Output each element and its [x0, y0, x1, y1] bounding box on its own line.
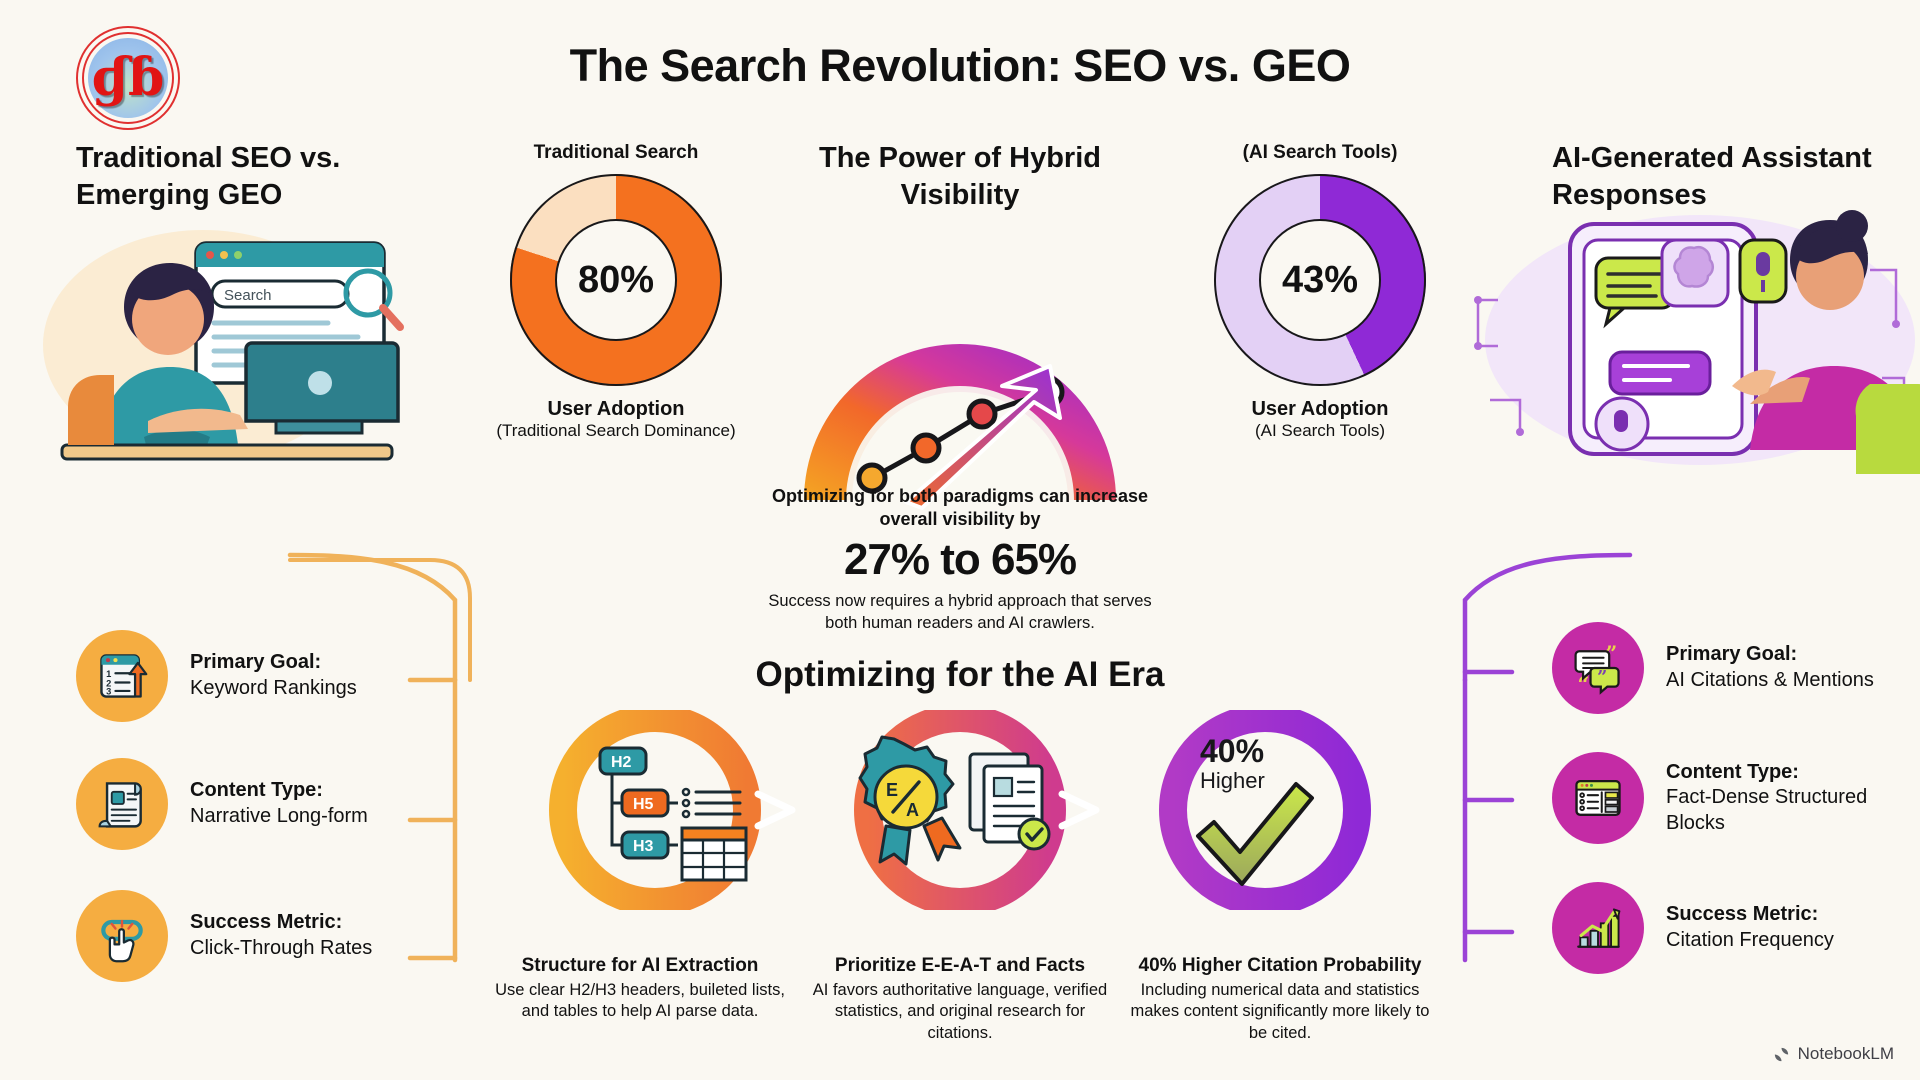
left-feature-content-type[interactable]: Content Type: Narrative Long-form	[76, 758, 368, 850]
donut-chart-traditional-search: Traditional Search 80% User Adoption (Tr…	[496, 142, 736, 441]
left-feature-title-3: Success Metric:	[190, 910, 372, 936]
flow-caption-heading-3: 40% Higher Citation Probability	[1128, 955, 1432, 977]
page-title: The Search Revolution: SEO vs. GEO	[0, 40, 1920, 92]
flow-caption-body-2: AI favors authoritative language, verifi…	[808, 980, 1112, 1044]
flow-caption-body-1: Use clear H2/H3 headers, buileted lists,…	[488, 980, 792, 1023]
right-feature-content-type[interactable]: Content Type: Fact-Dense Structured Bloc…	[1552, 752, 1920, 844]
center-statistic: Optimizing for both paradigms can increa…	[760, 485, 1160, 635]
svg-text:H2: H2	[611, 754, 632, 771]
donut-caption-sub: (Traditional Search Dominance)	[496, 421, 736, 441]
ai-era-flow-diagram: H2 H5 H3 E A	[500, 710, 1420, 910]
document-scroll-icon	[76, 758, 168, 850]
donut-ring-ai: 43%	[1214, 174, 1426, 386]
flow-caption-3: 40% Higher Citation Probability Includin…	[1120, 955, 1440, 1044]
right-feature-body-3: Citation Frequency	[1666, 929, 1834, 951]
flow-captions: Structure for AI Extraction Use clear H2…	[480, 955, 1440, 1044]
donut-ring-traditional: 80%	[510, 174, 722, 386]
growth-chart-icon	[1552, 882, 1644, 974]
right-feature-title-3: Success Metric:	[1666, 902, 1834, 928]
donut-chart-ai-search-tools: (AI Search Tools) 43% User Adoption (AI …	[1200, 142, 1440, 441]
left-feature-success-metric[interactable]: Success Metric: Click-Through Rates	[76, 890, 372, 982]
flow-caption-body-3: Including numerical data and statistics …	[1128, 980, 1432, 1044]
right-feature-body-2: Fact-Dense Structured Blocks	[1666, 786, 1867, 834]
flow-caption-heading-2: Prioritize E-E-A-T and Facts	[808, 955, 1112, 977]
svg-text:40%: 40%	[1200, 733, 1264, 769]
svg-text:A: A	[906, 800, 919, 820]
center-stat-sub: Success now requires a hybrid approach t…	[760, 591, 1160, 635]
donut-caption-bold-ai: User Adoption	[1200, 398, 1440, 421]
notebooklm-icon	[1772, 1045, 1791, 1064]
flow-caption-heading-1: Structure for AI Extraction	[488, 955, 792, 977]
left-column-heading: Traditional SEO vs. Emerging GEO	[76, 140, 456, 213]
structured-blocks-icon	[1552, 752, 1644, 844]
center-column-heading: The Power of Hybrid Visibility	[790, 140, 1130, 213]
left-feature-text-2: Content Type: Narrative Long-form	[190, 778, 368, 829]
center-stat-value: 27% to 65%	[760, 535, 1160, 585]
donut-caption-sub-ai: (AI Search Tools)	[1200, 421, 1440, 441]
right-feature-text-3: Success Metric: Citation Frequency	[1666, 902, 1834, 953]
infographic-canvas: ɠɓ The Search Revolution: SEO vs. GEO Tr…	[0, 0, 1920, 1080]
svg-text:H5: H5	[633, 796, 654, 813]
center-stat-lead: Optimizing for both paradigms can increa…	[760, 485, 1160, 531]
donut-caption-bold: User Adoption	[496, 398, 736, 421]
donut-caption-bottom-ai: User Adoption (AI Search Tools)	[1200, 398, 1440, 441]
right-feature-success-metric[interactable]: Success Metric: Citation Frequency	[1552, 882, 1834, 974]
watermark-label: NotebookLM	[1798, 1044, 1894, 1064]
left-feature-title-2: Content Type:	[190, 778, 368, 804]
donut-caption-bottom-traditional: User Adoption (Traditional Search Domina…	[496, 398, 736, 441]
left-feature-body-3: Click-Through Rates	[190, 937, 372, 959]
svg-text:H3: H3	[633, 838, 654, 855]
donut-caption-top: Traditional Search	[496, 142, 736, 164]
right-feature-title-2: Content Type:	[1666, 760, 1920, 786]
left-feature-text-3: Success Metric: Click-Through Rates	[190, 910, 372, 961]
section-title-optimizing: Optimizing for the AI Era	[0, 655, 1920, 695]
right-feature-text-2: Content Type: Fact-Dense Structured Bloc…	[1666, 760, 1920, 837]
watermark: NotebookLM	[1772, 1044, 1894, 1064]
person-with-ai-phone-illustration: ”	[1450, 200, 1920, 475]
donut-caption-top-ai: (AI Search Tools)	[1200, 142, 1440, 164]
flow-caption-2: Prioritize E-E-A-T and Facts AI favors a…	[800, 955, 1120, 1044]
hybrid-visibility-gauge	[786, 330, 1134, 510]
donut-value-ai: 43%	[1282, 259, 1358, 302]
person-at-desktop-illustration: Search	[28, 215, 473, 480]
donut-value-traditional: 80%	[578, 259, 654, 302]
click-cursor-icon	[76, 890, 168, 982]
flow-caption-1: Structure for AI Extraction Use clear H2…	[480, 955, 800, 1044]
svg-text:Higher: Higher	[1200, 768, 1265, 793]
svg-text:Search: Search	[224, 287, 272, 304]
svg-text:E: E	[886, 780, 898, 800]
left-feature-body-2: Narrative Long-form	[190, 805, 368, 827]
